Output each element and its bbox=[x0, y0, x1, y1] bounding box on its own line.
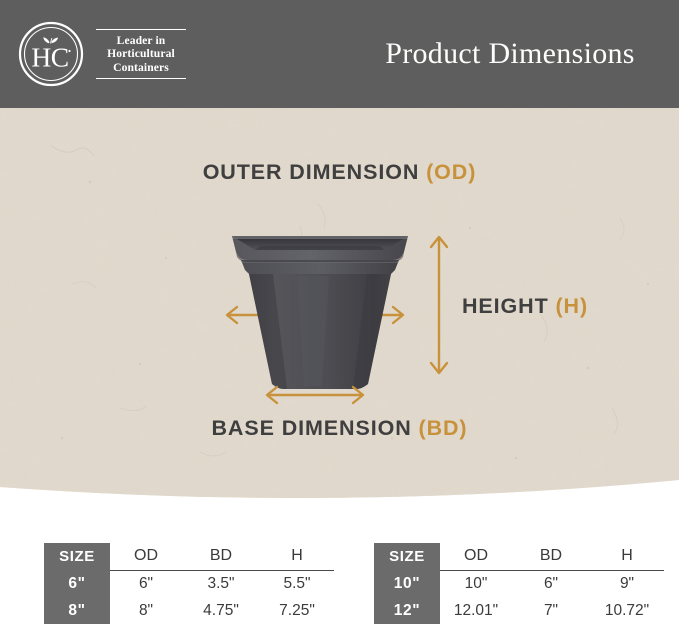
cell-size: 6" bbox=[44, 570, 110, 597]
cell-bd: 7" bbox=[512, 597, 590, 624]
svg-text:HC: HC bbox=[31, 42, 68, 73]
cell-size: 12" bbox=[374, 597, 440, 624]
base-dimension-label: BASE DIMENSION (BD) bbox=[0, 416, 679, 441]
brand-logo-group: HC Leader in Horticultural Containers bbox=[18, 18, 193, 90]
cell-h: 10.72" bbox=[590, 597, 664, 624]
table-row: 6" 6" 3.5" 5.5" bbox=[44, 570, 334, 597]
height-text: HEIGHT bbox=[462, 294, 556, 318]
column-header-size: SIZE bbox=[44, 543, 110, 570]
base-dimension-text: BASE DIMENSION bbox=[211, 416, 418, 440]
product-dimensions-infographic: HC Leader in Horticultural Containers Pr… bbox=[0, 0, 679, 636]
column-header-h: H bbox=[590, 543, 664, 570]
height-abbr: (H) bbox=[556, 294, 589, 318]
tagline-line-1: Leader in bbox=[93, 34, 189, 47]
table-row: 10" 10" 6" 9" bbox=[374, 570, 664, 597]
header-band: HC Leader in Horticultural Containers Pr… bbox=[0, 0, 679, 108]
table-row: 8" 8" 4.75" 7.25" bbox=[44, 597, 334, 624]
cell-od: 12.01" bbox=[440, 597, 512, 624]
outer-dimension-label: OUTER DIMENSION (OD) bbox=[0, 160, 679, 185]
tagline-rule-bottom bbox=[96, 78, 186, 79]
table-header-row: SIZE OD BD H bbox=[374, 543, 664, 570]
hc-circle-leaf-logo-icon: HC bbox=[18, 21, 84, 87]
base-dimension-arrow-icon bbox=[260, 384, 370, 406]
tagline-rule-top bbox=[96, 29, 186, 30]
dimension-diagram: OUTER DIMENSION (OD) bbox=[0, 108, 679, 508]
brand-tagline: Leader in Horticultural Containers bbox=[93, 29, 189, 79]
cell-h: 9" bbox=[590, 570, 664, 597]
column-header-h: H bbox=[260, 543, 334, 570]
cell-size: 10" bbox=[374, 570, 440, 597]
outer-dimension-abbr: (OD) bbox=[426, 160, 476, 184]
square-tapered-planter-pot-icon bbox=[225, 226, 415, 396]
spec-table: SIZE OD BD H 6" 6" 3.5" 5.5" 8" 8" 4.75" bbox=[44, 543, 334, 624]
column-header-bd: BD bbox=[512, 543, 590, 570]
height-arrow-icon bbox=[428, 230, 450, 380]
tagline-line-3: Containers bbox=[93, 61, 189, 74]
page-title: Product Dimensions bbox=[360, 0, 660, 108]
cell-od: 10" bbox=[440, 570, 512, 597]
spec-table-small-sizes: SIZE OD BD H 6" 6" 3.5" 5.5" 8" 8" 4.75" bbox=[44, 543, 334, 625]
column-header-size: SIZE bbox=[374, 543, 440, 570]
cell-bd: 6" bbox=[512, 570, 590, 597]
cell-h: 5.5" bbox=[260, 570, 334, 597]
column-header-od: OD bbox=[110, 543, 182, 570]
cell-bd: 4.75" bbox=[182, 597, 260, 624]
table-row: 12" 12.01" 7" 10.72" bbox=[374, 597, 664, 624]
outer-dimension-text: OUTER DIMENSION bbox=[203, 160, 426, 184]
height-label: HEIGHT (H) bbox=[462, 294, 588, 319]
cell-h: 7.25" bbox=[260, 597, 334, 624]
cell-bd: 3.5" bbox=[182, 570, 260, 597]
tagline-line-2: Horticultural bbox=[93, 47, 189, 60]
table-header-row: SIZE OD BD H bbox=[44, 543, 334, 570]
cell-size: 8" bbox=[44, 597, 110, 624]
spec-table: SIZE OD BD H 10" 10" 6" 9" 12" 12.01" 7" bbox=[374, 543, 664, 624]
base-dimension-abbr: (BD) bbox=[419, 416, 468, 440]
spec-table-large-sizes: SIZE OD BD H 10" 10" 6" 9" 12" 12.01" 7" bbox=[374, 543, 664, 625]
cell-od: 6" bbox=[110, 570, 182, 597]
column-header-od: OD bbox=[440, 543, 512, 570]
column-header-bd: BD bbox=[182, 543, 260, 570]
cell-od: 8" bbox=[110, 597, 182, 624]
